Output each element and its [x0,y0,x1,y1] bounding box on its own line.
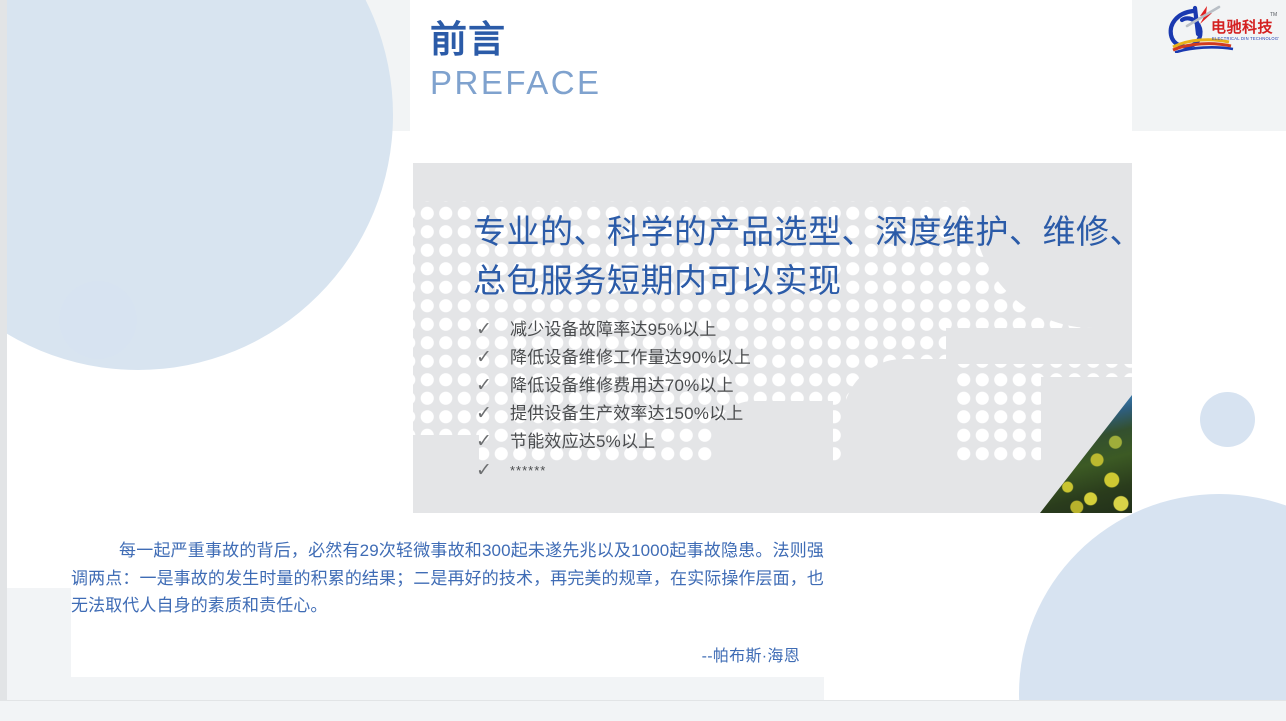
list-item: ✓ 降低设备维修费用达70%以上 [473,371,893,399]
list-item: ✓ 减少设备故障率达95%以上 [473,315,893,343]
map-ocean-mask [946,328,1132,364]
check-icon: ✓ [473,404,510,423]
list-item: ✓ 节能效应达5%以上 [473,428,893,456]
benefit-list: ✓ 减少设备故障率达95%以上 ✓ 降低设备维修工作量达90%以上 ✓ 降低设备… [473,315,893,484]
svg-text:ELECTRICAL DIN TECHNOLOGY: ELECTRICAL DIN TECHNOLOGY [1212,36,1279,41]
map-ocean-mask [413,435,479,475]
check-icon: ✓ [473,461,510,480]
content-card: 专业的、科学的产品选型、深度维护、维修、 总包服务短期内可以实现 ✓ 减少设备故… [413,163,1132,513]
check-icon: ✓ [473,432,510,451]
background-edge-strip-left [0,0,7,721]
decorative-circle-small-left [59,281,137,359]
quote-panel: 每一起严重事故的背后，必然有29次轻微事故和300起未遂先兆以及1000起事故隐… [71,524,824,677]
card-headline: 专业的、科学的产品选型、深度维护、维修、 总包服务短期内可以实现 [473,208,1132,306]
background-edge-strip-bottom [0,700,1286,721]
quote-text: 每一起严重事故的背后，必然有29次轻微事故和300起未遂先兆以及1000起事故隐… [71,537,824,620]
decorative-circle-small-right [1200,392,1255,447]
logo-artwork: 电驰科技 ELECTRICAL DIN TECHNOLOGY TM [1167,4,1279,53]
quote-attribution: --帕布斯·海恩 [702,642,800,666]
list-item: ✓ 降低设备维修工作量达90%以上 [473,343,893,371]
company-logo: 电驰科技 ELECTRICAL DIN TECHNOLOGY TM [1167,4,1279,53]
decorative-circle-large-bottom-right [1019,494,1286,721]
slide-canvas: 前言 PREFACE 专业的、科学的产品选型、深度维护、维修、 总包服务短期内可… [0,0,1286,721]
card-headline-line-1: 专业的、科学的产品选型、深度维护、维修、 [473,208,1132,257]
svg-text:TM: TM [1270,12,1277,18]
check-icon: ✓ [473,348,510,367]
list-item-label: 降低设备维修工作量达90%以上 [510,349,751,366]
list-item-label: 降低设备维修费用达70%以上 [510,377,734,394]
list-item-label: 提供设备生产效率达150%以上 [510,405,743,422]
list-item-label: ****** [510,464,546,477]
page-title-chinese: 前言 [430,20,506,61]
header-panel: 前言 PREFACE [411,0,1132,131]
card-headline-line-2: 总包服务短期内可以实现 [473,257,1132,306]
page-title-english: PREFACE [430,65,602,101]
list-item: ✓ 提供设备生产效率达150%以上 [473,400,893,428]
list-item-label: 节能效应达5%以上 [510,433,655,450]
list-item-label: 减少设备故障率达95%以上 [510,321,717,338]
check-icon: ✓ [473,376,510,395]
svg-text:电驰科技: 电驰科技 [1211,18,1274,36]
list-item: ✓ ****** [473,456,893,484]
check-icon: ✓ [473,320,510,339]
